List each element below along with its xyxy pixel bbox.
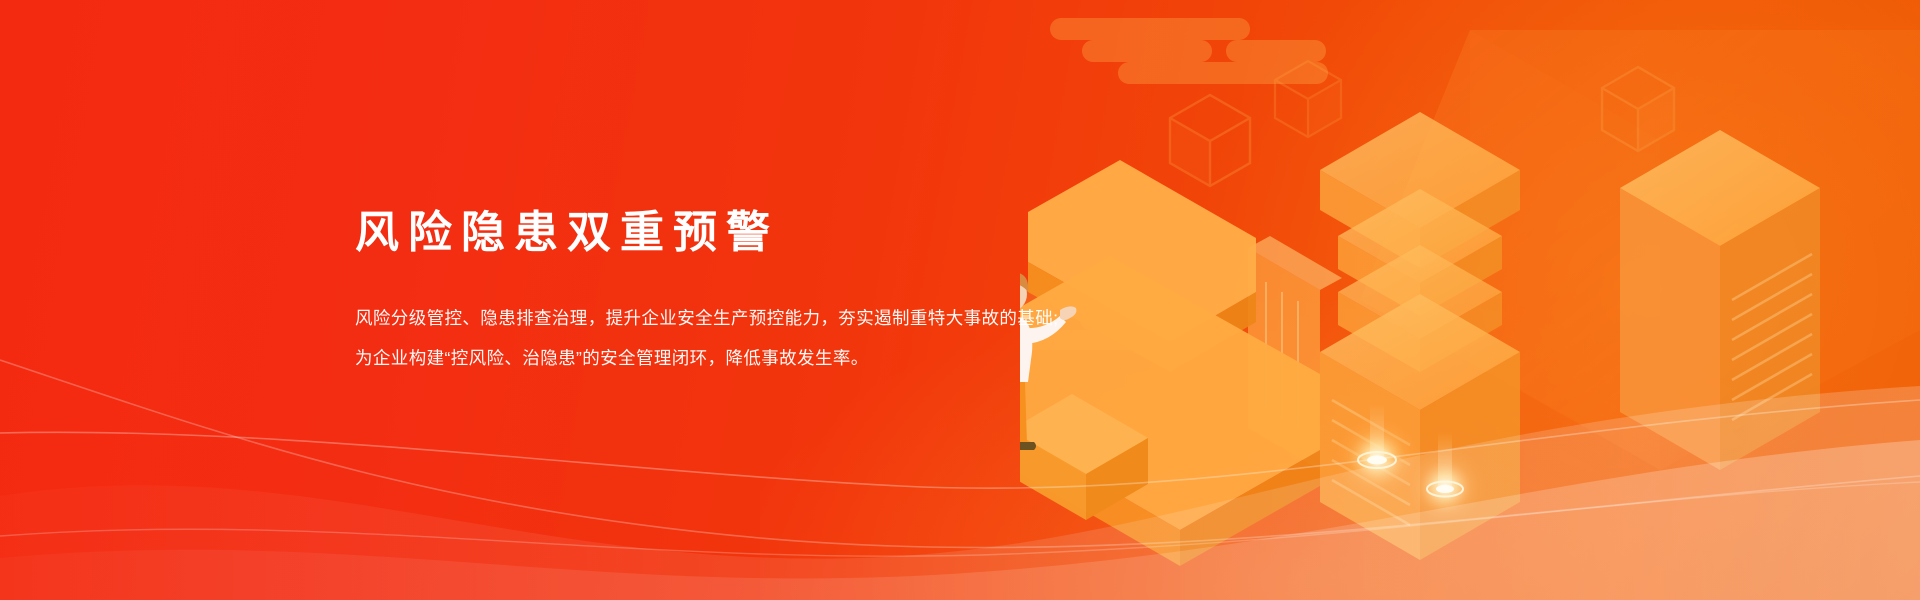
hero-text-block: 风险隐患双重预警 风险分级管控、隐患排查治理，提升企业安全生产预控能力，夯实遏制… xyxy=(355,205,1215,378)
hex-cube-small xyxy=(1275,61,1341,137)
wave-line-2 xyxy=(0,360,1920,548)
subtitle-line-2: 为企业构建“控风险、治隐患”的安全管理闭环，降低事故发生率。 xyxy=(355,338,1215,378)
wave-fill-back xyxy=(0,386,1920,600)
tower-right xyxy=(1620,130,1820,470)
glow-orb-right xyxy=(1403,432,1487,529)
hex-cube-large xyxy=(1170,95,1250,186)
wave-line-1 xyxy=(0,400,1920,488)
hex-cube-upper-right xyxy=(1602,67,1674,151)
subtitle-line-1: 风险分级管控、隐患排查治理，提升企业安全生产预控能力，夯实遏制重特大事故的基础; xyxy=(355,298,1215,338)
foreground-small-cube xyxy=(1020,394,1148,520)
page-title: 风险隐患双重预警 xyxy=(355,205,1215,260)
glow-orb-left xyxy=(1331,404,1423,504)
backdrop-slab xyxy=(1360,30,1920,470)
tower-center-stack xyxy=(1320,112,1520,560)
wave-fill-front xyxy=(0,440,1920,600)
tower-left-glass xyxy=(1248,236,1342,470)
hero-banner: 风险隐患双重预警 风险分级管控、隐患排查治理，提升企业安全生产预控能力，夯实遏制… xyxy=(0,0,1920,600)
background-glow-right xyxy=(1200,0,1920,600)
cloud-motif-upper xyxy=(1050,18,1328,84)
wave-line-3 xyxy=(0,482,1920,556)
